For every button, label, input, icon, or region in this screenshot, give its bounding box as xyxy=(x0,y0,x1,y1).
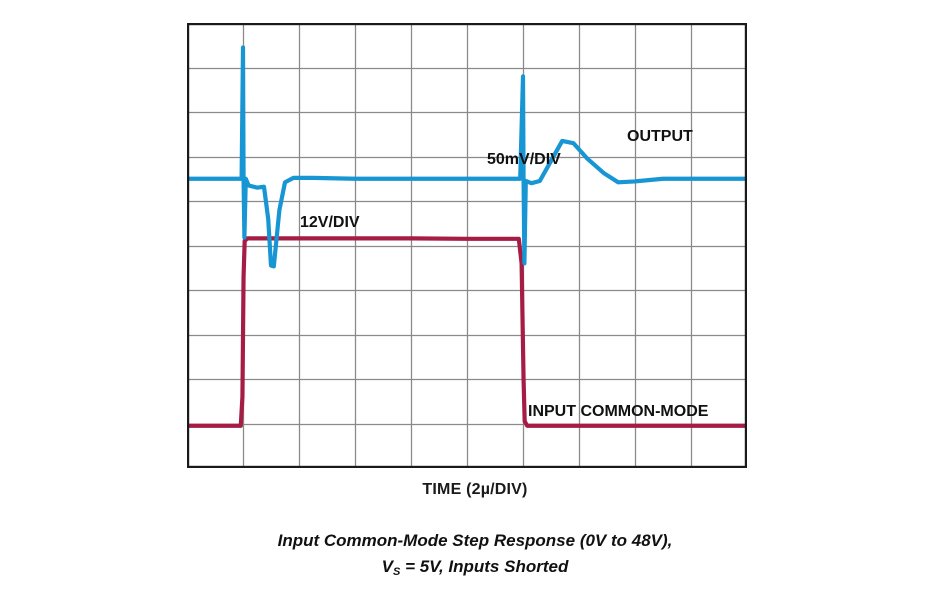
x-axis-label: TIME (2µ/DIV) xyxy=(0,481,950,499)
caption-vs-value: = 5V, Inputs Shorted xyxy=(400,557,568,576)
scope-figure: 50mV/DIV 12V/DIV OUTPUT INPUT COMMON-MOD… xyxy=(0,0,950,599)
oscilloscope-graticule xyxy=(187,23,747,468)
input-scale-label: 12V/DIV xyxy=(300,214,360,232)
input-common-mode-name-label: INPUT COMMON-MODE xyxy=(528,403,708,421)
output-scale-label: 50mV/DIV xyxy=(487,151,561,169)
caption-line-2: VS = 5V, Inputs Shorted xyxy=(0,554,950,582)
figure-caption: Input Common-Mode Step Response (0V to 4… xyxy=(0,528,950,582)
caption-vs-symbol: V xyxy=(382,557,393,576)
caption-line-1: Input Common-Mode Step Response (0V to 4… xyxy=(278,531,673,550)
caption-vs-subscript: S xyxy=(393,566,400,578)
output-name-label: OUTPUT xyxy=(627,128,693,146)
plot-area: 50mV/DIV xyxy=(187,23,747,468)
